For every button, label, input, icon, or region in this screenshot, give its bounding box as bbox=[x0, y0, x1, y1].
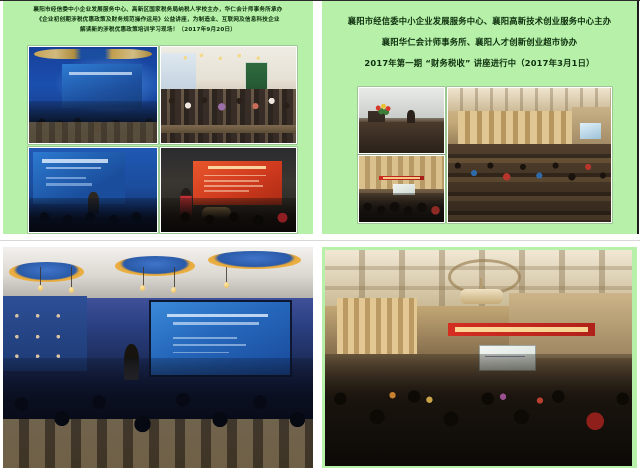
photo-seminar-blue-screen bbox=[3, 247, 313, 468]
photo-red-banner-lecture bbox=[160, 147, 297, 233]
screen-subtitle-line bbox=[173, 322, 259, 324]
scene-red-banner-lecture bbox=[161, 148, 296, 232]
screen-title-line bbox=[167, 314, 267, 317]
audience-heads bbox=[325, 354, 632, 466]
caption-line-3: 解读新的涉税优惠政策培训学习现场！（2017年9月20日） bbox=[9, 26, 307, 36]
red-slide-title bbox=[208, 166, 267, 169]
red-slide-line-1 bbox=[204, 175, 266, 177]
audience-heads bbox=[3, 358, 313, 469]
gold-curtain bbox=[337, 298, 417, 354]
slide-title-line bbox=[42, 159, 108, 162]
caption-line-2: 襄阳华仁会计师事务所、襄阳人才创新创业超市协办 bbox=[330, 32, 629, 53]
pendant-cord-4 bbox=[174, 267, 175, 287]
photo-lecture-blue-slide bbox=[28, 147, 158, 233]
audience-silhouettes bbox=[161, 198, 296, 232]
flower-arrangement bbox=[374, 102, 393, 116]
screen-body-line-3 bbox=[173, 352, 229, 354]
pendant-cord-3 bbox=[143, 267, 144, 287]
caption-line-1: 襄阳市经信委中小企业发展服务中心、高新区国家税务局纳税人学校主办，华仁会计师事务… bbox=[9, 6, 307, 16]
screen-body-line-1 bbox=[173, 337, 237, 339]
head-table bbox=[359, 122, 444, 153]
photo-bright-classroom-audience bbox=[160, 46, 297, 144]
caption-line-1: 襄阳市经信委中小企业发展服务中心、襄阳高新技术创业服务中心主办 bbox=[330, 11, 629, 32]
caption-line-3: 2017年第一期 “财务税收” 讲座进行中（2017年3月1日） bbox=[330, 53, 629, 74]
scene-big-auditorium bbox=[448, 88, 611, 222]
red-slide-line-3 bbox=[204, 185, 263, 187]
caption-line-2: 《企业初创期涉税优惠政策及财务规范操作运用》公益讲座，为制造业、互联网及信息科技… bbox=[9, 16, 307, 26]
pendant-bulb-2 bbox=[69, 287, 74, 293]
seated-attendees bbox=[161, 91, 296, 124]
scene-auditorium-small bbox=[359, 156, 444, 222]
audience-silhouettes bbox=[29, 198, 157, 232]
pendant-bulb-3 bbox=[140, 285, 145, 291]
caption-top-left: 襄阳市经信委中小企业发展服务中心、高新区国家税务局纳税人学校主办，华仁会计师事务… bbox=[3, 6, 313, 35]
scene-blue-projection-hall bbox=[29, 47, 157, 143]
photo-big-auditorium-desks bbox=[447, 87, 612, 223]
chandelier bbox=[460, 289, 503, 304]
red-slide-line-2 bbox=[204, 180, 259, 182]
photo-blue-projection-hall bbox=[28, 46, 158, 144]
chair-row bbox=[29, 122, 157, 143]
caption-top-right: 襄阳市经信委中小企业发展服务中心、襄阳高新技术创业服务中心主办 襄阳华仁会计师事… bbox=[322, 11, 637, 74]
slide-body-line-1 bbox=[46, 177, 87, 179]
slide-subtitle-line bbox=[46, 167, 101, 170]
panel-bottom-right bbox=[322, 247, 637, 468]
screen-body-line-2 bbox=[173, 344, 246, 346]
panel-top-right: 襄阳市经信委中小企业发展服务中心、襄阳高新技术创业服务中心主办 襄阳华仁会计师事… bbox=[322, 1, 639, 234]
slide-board bbox=[33, 152, 125, 204]
red-banner bbox=[448, 323, 595, 336]
scene-seminar-blue-screen bbox=[3, 247, 313, 468]
scene-auditorium-red-banner bbox=[325, 250, 632, 466]
ceiling-disc-3 bbox=[208, 251, 301, 269]
gold-curtain bbox=[458, 111, 575, 149]
row-divider-line bbox=[0, 240, 640, 241]
pendant-cord-2 bbox=[71, 267, 72, 287]
pendant-lamps bbox=[161, 47, 296, 62]
seated-person bbox=[407, 110, 416, 123]
scene-bright-classroom bbox=[161, 47, 296, 143]
pendant-bulb-1 bbox=[38, 285, 43, 291]
audience-silhouettes bbox=[359, 193, 444, 222]
seated-attendees bbox=[448, 152, 611, 214]
scene-lecture-blue-slide bbox=[29, 148, 157, 232]
scene-podium bbox=[359, 88, 444, 153]
panel-bottom-left bbox=[3, 247, 313, 468]
side-screen bbox=[580, 123, 601, 139]
photo-auditorium-red-banner bbox=[325, 250, 632, 466]
ceiling-disc-2 bbox=[115, 256, 196, 276]
photo-podium-with-flowers bbox=[358, 87, 445, 154]
pendant-cord-1 bbox=[40, 267, 41, 287]
red-slide-line-4 bbox=[204, 190, 249, 192]
panel-top-left: 襄阳市经信委中小企业发展服务中心、高新区国家税务局纳税人学校主办，华仁会计师事务… bbox=[3, 1, 313, 234]
red-banner bbox=[379, 176, 423, 181]
photo-auditorium-small bbox=[358, 155, 445, 223]
poster-page: 襄阳市经信委中小企业发展服务中心、高新区国家税务局纳税人学校主办，华仁会计师事务… bbox=[0, 0, 640, 469]
ceiling-light-band bbox=[34, 49, 152, 60]
slide-body-line-2 bbox=[46, 183, 92, 185]
